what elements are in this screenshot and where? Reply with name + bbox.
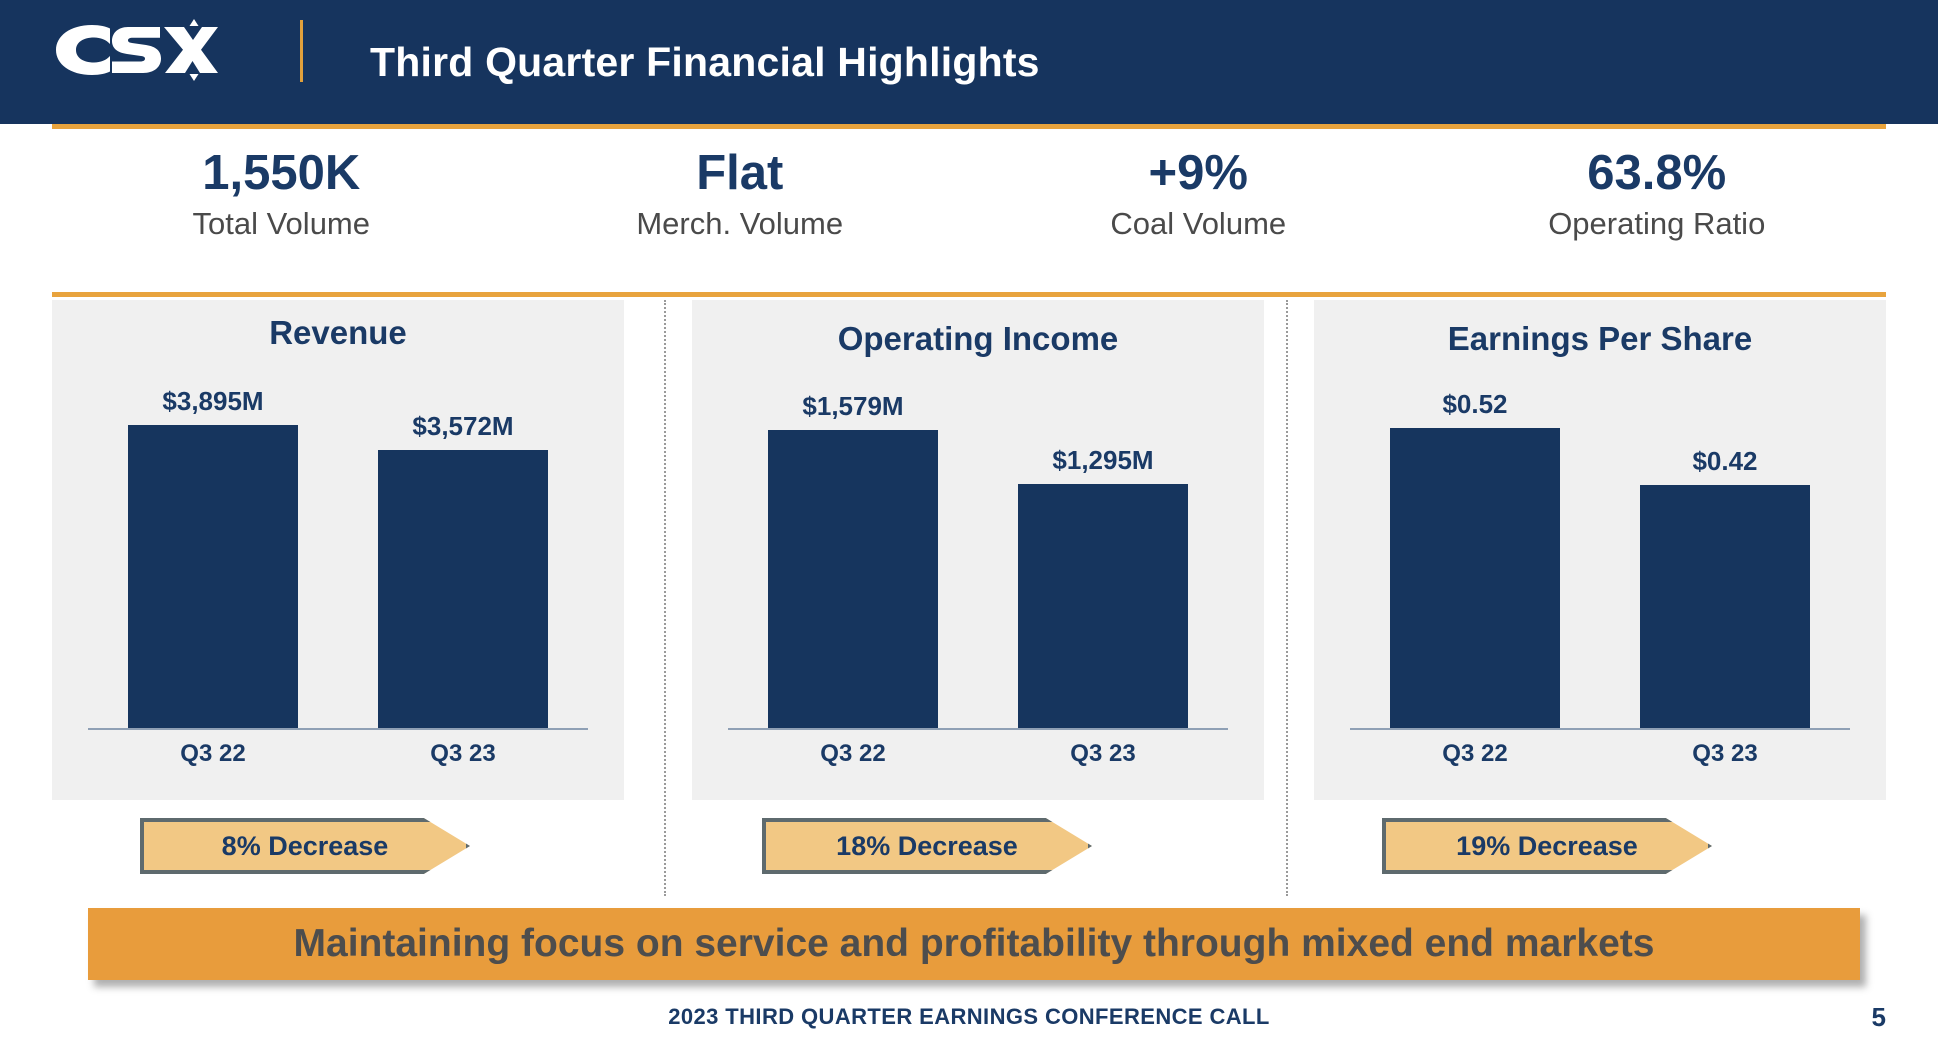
panel-divider — [1286, 300, 1288, 896]
header-divider — [300, 20, 303, 82]
category-labels: Q3 22 Q3 23 — [1350, 740, 1850, 780]
category-label: Q3 23 — [1640, 740, 1810, 780]
bar-item: $3,572M — [378, 370, 548, 728]
x-axis-line — [88, 728, 588, 730]
change-banner-operating-income: 18% Decrease — [762, 818, 1092, 874]
bar-value-label: $1,295M — [1018, 445, 1188, 476]
bar-q3-22 — [128, 425, 298, 728]
kpi-operating-ratio: 63.8% Operating Ratio — [1428, 132, 1887, 288]
category-label: Q3 22 — [768, 740, 938, 780]
category-label: Q3 23 — [1018, 740, 1188, 780]
plot-area-revenue: $3,895M $3,572M — [88, 370, 588, 730]
plot-area-eps: $0.52 $0.42 — [1350, 370, 1850, 730]
chart-title: Earnings Per Share — [1314, 320, 1886, 358]
bar-value-label: $0.42 — [1640, 446, 1810, 477]
kpi-value: +9% — [1149, 148, 1248, 200]
chart-panel-revenue: Revenue $3,895M $3,572M Q3 22 Q3 23 — [52, 300, 624, 800]
bar-q3-23 — [1018, 484, 1188, 728]
chart-panel-operating-income: Operating Income $1,579M $1,295M Q3 22 Q… — [692, 300, 1264, 800]
category-label: Q3 22 — [128, 740, 298, 780]
bar-q3-22 — [1390, 428, 1560, 728]
x-axis-line — [1350, 728, 1850, 730]
chart-panels: Revenue $3,895M $3,572M Q3 22 Q3 23 Oper… — [52, 300, 1886, 896]
kpi-strip: 1,550K Total Volume Flat Merch. Volume +… — [52, 132, 1886, 288]
chart-panel-earnings-per-share: Earnings Per Share $0.52 $0.42 Q3 22 Q3 … — [1314, 300, 1886, 800]
bar-item: $1,579M — [768, 370, 938, 728]
kpi-total-volume: 1,550K Total Volume — [52, 132, 511, 288]
category-label: Q3 22 — [1390, 740, 1560, 780]
page-number: 5 — [1872, 1002, 1886, 1033]
bar-value-label: $1,579M — [768, 391, 938, 422]
bar-q3-23 — [1640, 485, 1810, 728]
bar-group: $3,895M $3,572M — [88, 370, 588, 728]
bar-group: $0.52 $0.42 — [1350, 370, 1850, 728]
kpi-value: 63.8% — [1587, 148, 1726, 200]
gold-rule-bottom — [52, 292, 1886, 297]
csx-logo — [48, 14, 218, 86]
bar-value-label: $3,895M — [128, 386, 298, 417]
gold-rule-top — [52, 124, 1886, 129]
bar-item: $0.42 — [1640, 370, 1810, 728]
category-label: Q3 23 — [378, 740, 548, 780]
kpi-label: Total Volume — [193, 206, 371, 242]
bar-q3-23 — [378, 450, 548, 728]
bar-q3-22 — [768, 430, 938, 728]
kpi-merch-volume: Flat Merch. Volume — [511, 132, 970, 288]
page-title: Third Quarter Financial Highlights — [370, 0, 1040, 124]
kpi-value: 1,550K — [202, 148, 360, 200]
kpi-label: Operating Ratio — [1548, 206, 1765, 242]
category-labels: Q3 22 Q3 23 — [728, 740, 1228, 780]
chart-title: Revenue — [52, 314, 624, 352]
kpi-label: Merch. Volume — [636, 206, 843, 242]
summary-banner: Maintaining focus on service and profita… — [88, 908, 1860, 980]
bar-item: $3,895M — [128, 370, 298, 728]
kpi-value: Flat — [696, 148, 783, 200]
plot-area-operating-income: $1,579M $1,295M — [728, 370, 1228, 730]
bar-value-label: $3,572M — [378, 411, 548, 442]
category-labels: Q3 22 Q3 23 — [88, 740, 588, 780]
slide-header: Third Quarter Financial Highlights — [0, 0, 1938, 124]
x-axis-line — [728, 728, 1228, 730]
bar-value-label: $0.52 — [1390, 389, 1560, 420]
bar-item: $1,295M — [1018, 370, 1188, 728]
kpi-label: Coal Volume — [1110, 206, 1286, 242]
footer-label: 2023 THIRD QUARTER EARNINGS CONFERENCE C… — [0, 1004, 1938, 1030]
chart-title: Operating Income — [692, 320, 1264, 358]
bar-item: $0.52 — [1390, 370, 1560, 728]
kpi-coal-volume: +9% Coal Volume — [969, 132, 1428, 288]
panel-divider — [664, 300, 666, 896]
bar-group: $1,579M $1,295M — [728, 370, 1228, 728]
change-banner-eps: 19% Decrease — [1382, 818, 1712, 874]
change-banner-revenue: 8% Decrease — [140, 818, 470, 874]
